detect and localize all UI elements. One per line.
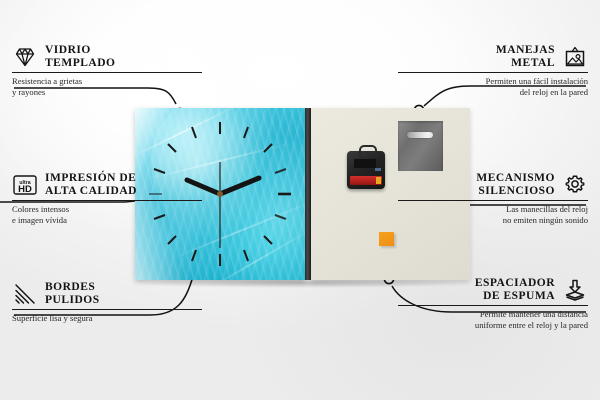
feature-title-line1: ESPACIADOR	[475, 277, 555, 289]
feature-desc-line2: no emiten ningún sonido	[503, 215, 588, 225]
clock-center-cap	[217, 191, 223, 197]
feature-title-line1: MANEJAS	[496, 44, 555, 56]
feature-title: MECANISMO SILENCIOSO	[476, 172, 555, 197]
ultra-hd-icon-main-text: HD	[18, 184, 32, 195]
feature-header: MANEJAS METAL	[398, 44, 588, 70]
diamond-icon	[12, 44, 38, 70]
feature-title: ESPACIADOR DE ESPUMA	[475, 277, 555, 302]
feature-impresion-alta-calidad: ultra HD IMPRESIÓN DE ALTA CALIDAD Color…	[12, 172, 202, 225]
feature-title-line1: IMPRESIÓN DE	[45, 172, 136, 184]
feature-header: BORDES PULIDOS	[12, 281, 202, 307]
feature-desc-line1: Permiten una fácil instalación	[486, 76, 588, 86]
clock-minute-hand	[220, 178, 259, 194]
feature-title-line2: SILENCIOSO	[478, 185, 555, 197]
foam-spacer-icon	[562, 277, 588, 303]
feature-bordes-pulidos: BORDES PULIDOS Superficie lisa y segura	[12, 281, 202, 324]
mechanism-hanging-loop	[359, 145, 377, 157]
feature-description: Superficie lisa y segura	[12, 313, 202, 324]
feature-vidrio-templado: VIDRIO TEMPLADO Resistencia a grietas y …	[12, 44, 202, 97]
feature-espaciador-espuma: ESPACIADOR DE ESPUMA Permite mantener un…	[398, 277, 588, 330]
feature-desc-line1: Resistencia a grietas	[12, 76, 82, 86]
feature-desc-line1: Las manecillas del reloj	[506, 204, 588, 214]
feature-title-line2: PULIDOS	[45, 294, 100, 306]
feature-manejas-metal: MANEJAS METAL Permiten una fácil instala…	[398, 44, 588, 97]
feature-title-line1: MECANISMO	[476, 172, 555, 184]
battery-terminal	[376, 177, 381, 184]
feature-desc-line1: Superficie lisa y segura	[12, 313, 92, 323]
feature-title: BORDES PULIDOS	[45, 281, 100, 306]
feature-description: Permite mantener una distancia uniforme …	[398, 309, 588, 330]
feature-desc-line2: e imagen vívida	[12, 215, 67, 225]
feature-divider	[12, 200, 202, 201]
feature-title: VIDRIO TEMPLADO	[45, 44, 115, 69]
feature-divider	[398, 200, 588, 201]
feature-title-line2: DE ESPUMA	[483, 290, 555, 302]
feature-title-line1: BORDES	[45, 281, 95, 293]
feature-desc-line2: y rayones	[12, 87, 45, 97]
feature-description: Las manecillas del reloj no emiten ningú…	[398, 204, 588, 225]
foam-spacer	[379, 232, 394, 246]
gear-icon	[562, 172, 588, 198]
ultra-hd-icon: ultra HD	[12, 172, 38, 198]
hanger-keyhole-slot	[407, 132, 433, 138]
battery	[350, 176, 382, 185]
feature-divider	[398, 72, 588, 73]
mechanism-indicator	[375, 168, 381, 171]
feature-desc-line2: del reloj en la pared	[520, 87, 588, 97]
feature-description: Permiten una fácil instalación del reloj…	[398, 76, 588, 97]
feature-divider	[12, 309, 202, 310]
product-infographic: VIDRIO TEMPLADO Resistencia a grietas y …	[0, 0, 600, 400]
feature-header: ESPACIADOR DE ESPUMA	[398, 277, 588, 303]
feature-title-line2: ALTA CALIDAD	[45, 185, 137, 197]
mechanism-body-bar	[354, 159, 376, 168]
feature-title: MANEJAS METAL	[496, 44, 555, 69]
feature-description: Colores intensos e imagen vívida	[12, 204, 202, 225]
feature-title-line1: VIDRIO	[45, 44, 91, 56]
feature-header: ultra HD IMPRESIÓN DE ALTA CALIDAD	[12, 172, 202, 198]
feature-header: MECANISMO SILENCIOSO	[398, 172, 588, 198]
polished-edges-icon	[12, 281, 38, 307]
feature-title: IMPRESIÓN DE ALTA CALIDAD	[45, 172, 137, 197]
feature-desc-line2: uniforme entre el reloj y la pared	[475, 320, 588, 330]
feature-title-line2: METAL	[511, 57, 555, 69]
feature-desc-line1: Permite mantener una distancia	[480, 309, 588, 319]
hanging-frame-icon	[562, 44, 588, 70]
feature-desc-line1: Colores intensos	[12, 204, 69, 214]
feature-divider	[398, 305, 588, 306]
feature-title-line2: TEMPLADO	[45, 57, 115, 69]
metal-hanger-plate	[398, 121, 443, 171]
clock-mechanism	[347, 151, 385, 189]
feature-header: VIDRIO TEMPLADO	[12, 44, 202, 70]
feature-description: Resistencia a grietas y rayones	[12, 76, 202, 97]
feature-divider	[12, 72, 202, 73]
feature-mecanismo-silencioso: MECANISMO SILENCIOSO Las manecillas del …	[398, 172, 588, 225]
